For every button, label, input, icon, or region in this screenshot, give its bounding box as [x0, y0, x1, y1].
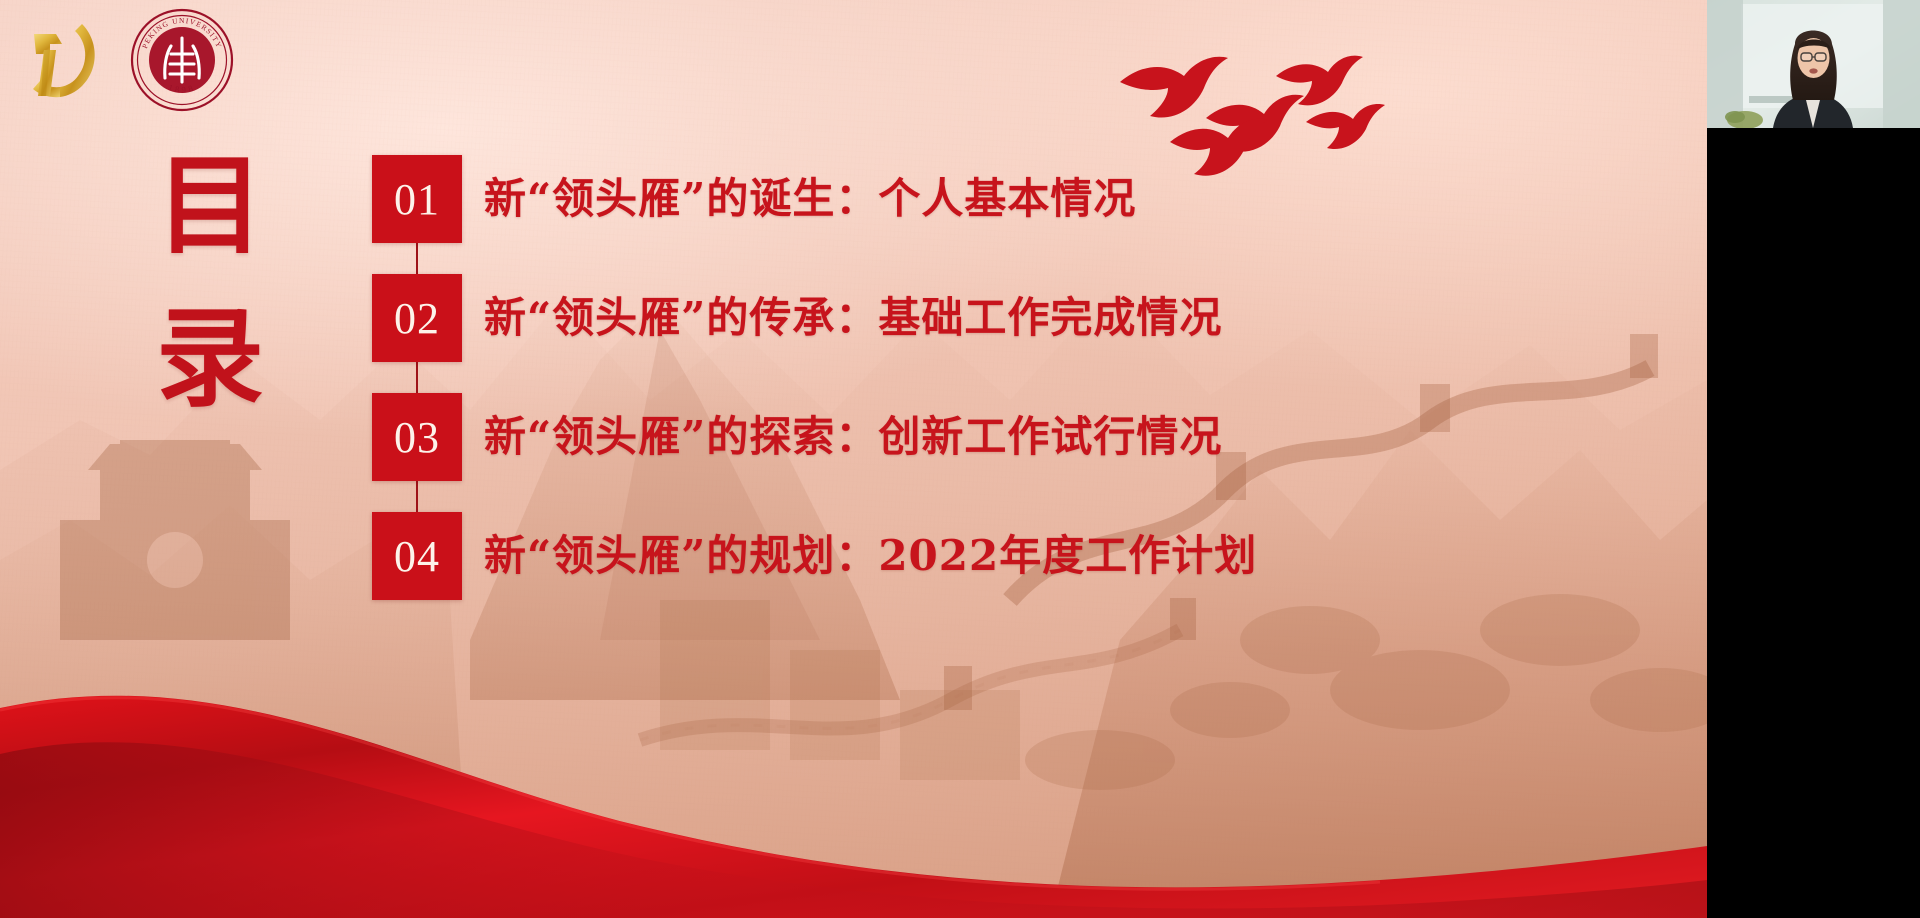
participant-webcam-video[interactable]	[1707, 0, 1920, 128]
agenda-item-label: 新“领头雁”的规划：2022年度工作计划	[484, 535, 1257, 577]
agenda-item-03[interactable]: 03 新“领头雁”的探索：创新工作试行情况	[372, 378, 1257, 496]
video-panel[interactable]	[1707, 0, 1920, 918]
agenda-number-badge: 04	[372, 512, 462, 600]
agenda-item-label: 新“领头雁”的诞生：个人基本情况	[484, 178, 1136, 220]
title-char-1: 目	[150, 130, 270, 283]
agenda-number-badge: 01	[372, 155, 462, 243]
presentation-slide[interactable]: PEKING UNIVERSITY 1898	[0, 0, 1707, 918]
agenda-item-label: 新“领头雁”的探索：创新工作试行情况	[484, 416, 1222, 458]
agenda-item-label: 新“领头雁”的传承：基础工作完成情况	[484, 297, 1222, 339]
agenda-item-02[interactable]: 02 新“领头雁”的传承：基础工作完成情况	[372, 259, 1257, 377]
page-title: 目 录	[150, 130, 270, 437]
video-panel-empty-area	[1707, 128, 1920, 918]
agenda-number-badge: 02	[372, 274, 462, 362]
logo-group: PEKING UNIVERSITY 1898	[16, 8, 234, 112]
peking-university-logo: PEKING UNIVERSITY 1898	[130, 8, 234, 112]
agenda-list: 01 新“领头雁”的诞生：个人基本情况 02 新“领头雁”的传承：基础工作完成情…	[372, 140, 1257, 616]
agenda-item-04[interactable]: 04 新“领头雁”的规划：2022年度工作计划	[372, 497, 1257, 615]
agenda-number-badge: 03	[372, 393, 462, 481]
title-char-2: 录	[150, 283, 270, 436]
cpc-emblem-logo	[16, 10, 108, 110]
agenda-item-01[interactable]: 01 新“领头雁”的诞生：个人基本情况	[372, 140, 1257, 258]
screen-root: PEKING UNIVERSITY 1898	[0, 0, 1920, 918]
